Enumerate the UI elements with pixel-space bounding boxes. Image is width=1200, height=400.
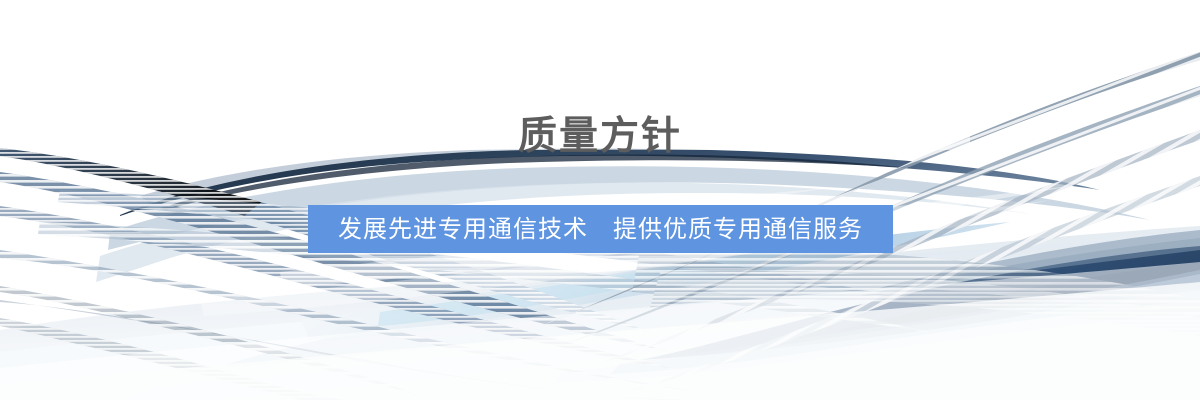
banner-content-layer: 质量方针 发展先进专用通信技术 提供优质专用通信服务 (0, 0, 1200, 400)
slogan-text: 发展先进专用通信技术 提供优质专用通信服务 (338, 205, 863, 253)
page-title: 质量方针 (0, 113, 1200, 161)
slogan-bar: 发展先进专用通信技术 提供优质专用通信服务 (308, 205, 893, 253)
quality-policy-banner: 质量方针 发展先进专用通信技术 提供优质专用通信服务 (0, 0, 1200, 400)
